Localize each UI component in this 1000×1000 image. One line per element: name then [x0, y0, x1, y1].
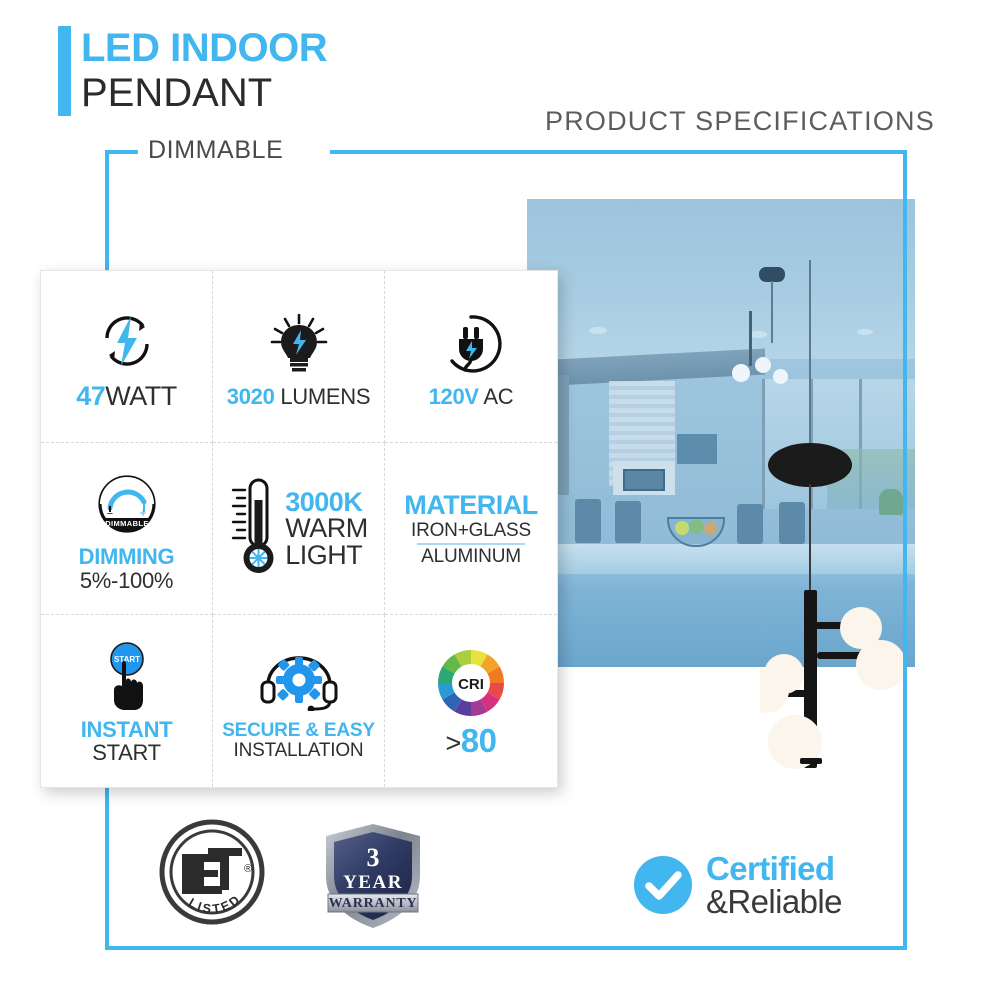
frame-top-left — [105, 150, 138, 154]
etl-listed-text: LISTED — [186, 891, 244, 916]
color-temperature-group: 3000K WARM LIGHT — [229, 474, 367, 583]
title-line-2: PENDANT — [81, 70, 327, 116]
warranty-period: YEAR — [343, 872, 403, 893]
spec-grid: 47WATT — [41, 271, 557, 787]
color-temperature-text: 3000K WARM LIGHT — [285, 489, 367, 568]
lumens-unit: LUMENS — [275, 384, 371, 409]
finger-press-start-icon: START — [96, 638, 158, 716]
spec-cell-material: MATERIAL IRON+GLASS ALUMINUM — [385, 443, 557, 615]
color-temp-kelvin: 3000K — [285, 489, 362, 515]
installation-line-2: INSTALLATION — [222, 741, 375, 761]
dimmable-icon-label: DIMMABLE — [105, 519, 149, 528]
light-bulb-bolt-icon — [268, 305, 330, 383]
dimmer-dial-icon: − + DIMMABLE — [95, 465, 159, 543]
specs-heading: PRODUCT SPECIFICATIONS — [545, 106, 935, 137]
page-title: LED INDOOR PENDANT — [58, 26, 327, 116]
wattage-unit: WATT — [105, 381, 176, 411]
headset-gear-support-icon — [258, 641, 340, 719]
dimming-label: DIMMING — [79, 545, 175, 568]
title-accent-bar — [58, 26, 71, 116]
voltage-unit: AC — [479, 384, 514, 409]
material-divider — [417, 543, 525, 545]
etl-registered-mark: ® — [244, 863, 252, 875]
plug-circle-icon — [440, 305, 502, 383]
cri-color-wheel-icon: CRI — [435, 644, 507, 722]
spec-cell-voltage: 120V AC — [385, 271, 557, 443]
color-temp-line3: LIGHT — [285, 542, 362, 568]
wattage-value: 47 — [76, 381, 105, 411]
spec-cell-cri-text: >80 — [446, 724, 497, 759]
spec-cell-cri: CRI >80 — [385, 615, 557, 787]
spec-cell-installation-text: SECURE & EASY INSTALLATION — [222, 721, 375, 761]
spec-cell-dimming: − + DIMMABLE DIMMING 5%-100% — [41, 443, 213, 615]
instant-start-line-1: INSTANT — [81, 718, 173, 741]
certified-line-1: Certified — [706, 852, 842, 885]
spec-cell-instant-start-text: INSTANT START — [81, 718, 173, 764]
spec-cell-color-temperature: 3000K WARM LIGHT — [213, 443, 385, 615]
voltage-value: 120V — [429, 384, 479, 409]
material-line-2: ALUMINUM — [421, 546, 521, 567]
instant-start-line-2: START — [81, 741, 173, 764]
certified-line-2: &Reliable — [706, 885, 842, 918]
frame-left-lower — [105, 760, 109, 950]
warranty-badge: 3 YEAR WARRANTY — [318, 820, 428, 932]
dimming-range: 5%-100% — [79, 569, 175, 592]
installation-line-1: SECURE & EASY — [222, 721, 375, 741]
frame-right — [903, 150, 907, 950]
check-circle-icon — [634, 856, 692, 914]
dimmable-label: DIMMABLE — [144, 136, 287, 165]
thermometer-icon — [229, 474, 279, 583]
spec-cell-lumens: 3020 LUMENS — [213, 271, 385, 443]
warranty-years: 3 — [367, 843, 380, 872]
spec-cell-wattage-text: 47WATT — [76, 382, 177, 410]
color-temp-line2: WARM — [285, 515, 367, 541]
cri-icon-label: CRI — [458, 676, 484, 693]
spec-cell-installation: SECURE & EASY INSTALLATION — [213, 615, 385, 787]
etl-listed-badge: ® LISTED — [158, 818, 266, 926]
pendant-light-fixture — [760, 260, 940, 800]
start-icon-label: START — [113, 655, 139, 664]
spec-cell-voltage-text: 120V AC — [429, 385, 514, 409]
cri-value: 80 — [461, 722, 497, 759]
spec-cell-lumens-text: 3020 LUMENS — [227, 385, 370, 409]
material-text: MATERIAL IRON+GLASS ALUMINUM — [404, 490, 537, 567]
frame-top-right — [330, 150, 907, 154]
warranty-label: WARRANTY — [329, 896, 418, 911]
title-line-1: LED INDOOR — [81, 26, 327, 70]
power-bolt-cycle-icon — [96, 302, 158, 380]
material-line-1: IRON+GLASS — [411, 520, 531, 541]
spec-card: 47WATT — [40, 270, 558, 788]
spec-cell-dimming-text: DIMMING 5%-100% — [79, 545, 175, 591]
svg-text:+: + — [139, 506, 146, 520]
material-heading: MATERIAL — [404, 490, 537, 520]
spec-cell-instant-start: START INSTANT START — [41, 615, 213, 787]
spec-cell-wattage: 47WATT — [41, 271, 213, 443]
certified-reliable-block: Certified &Reliable — [634, 852, 842, 918]
frame-bottom — [105, 946, 907, 950]
lumens-value: 3020 — [227, 384, 275, 409]
cri-operator: > — [446, 728, 461, 758]
infographic-canvas: LED INDOOR PENDANT PRODUCT SPECIFICATION… — [0, 0, 1000, 1000]
